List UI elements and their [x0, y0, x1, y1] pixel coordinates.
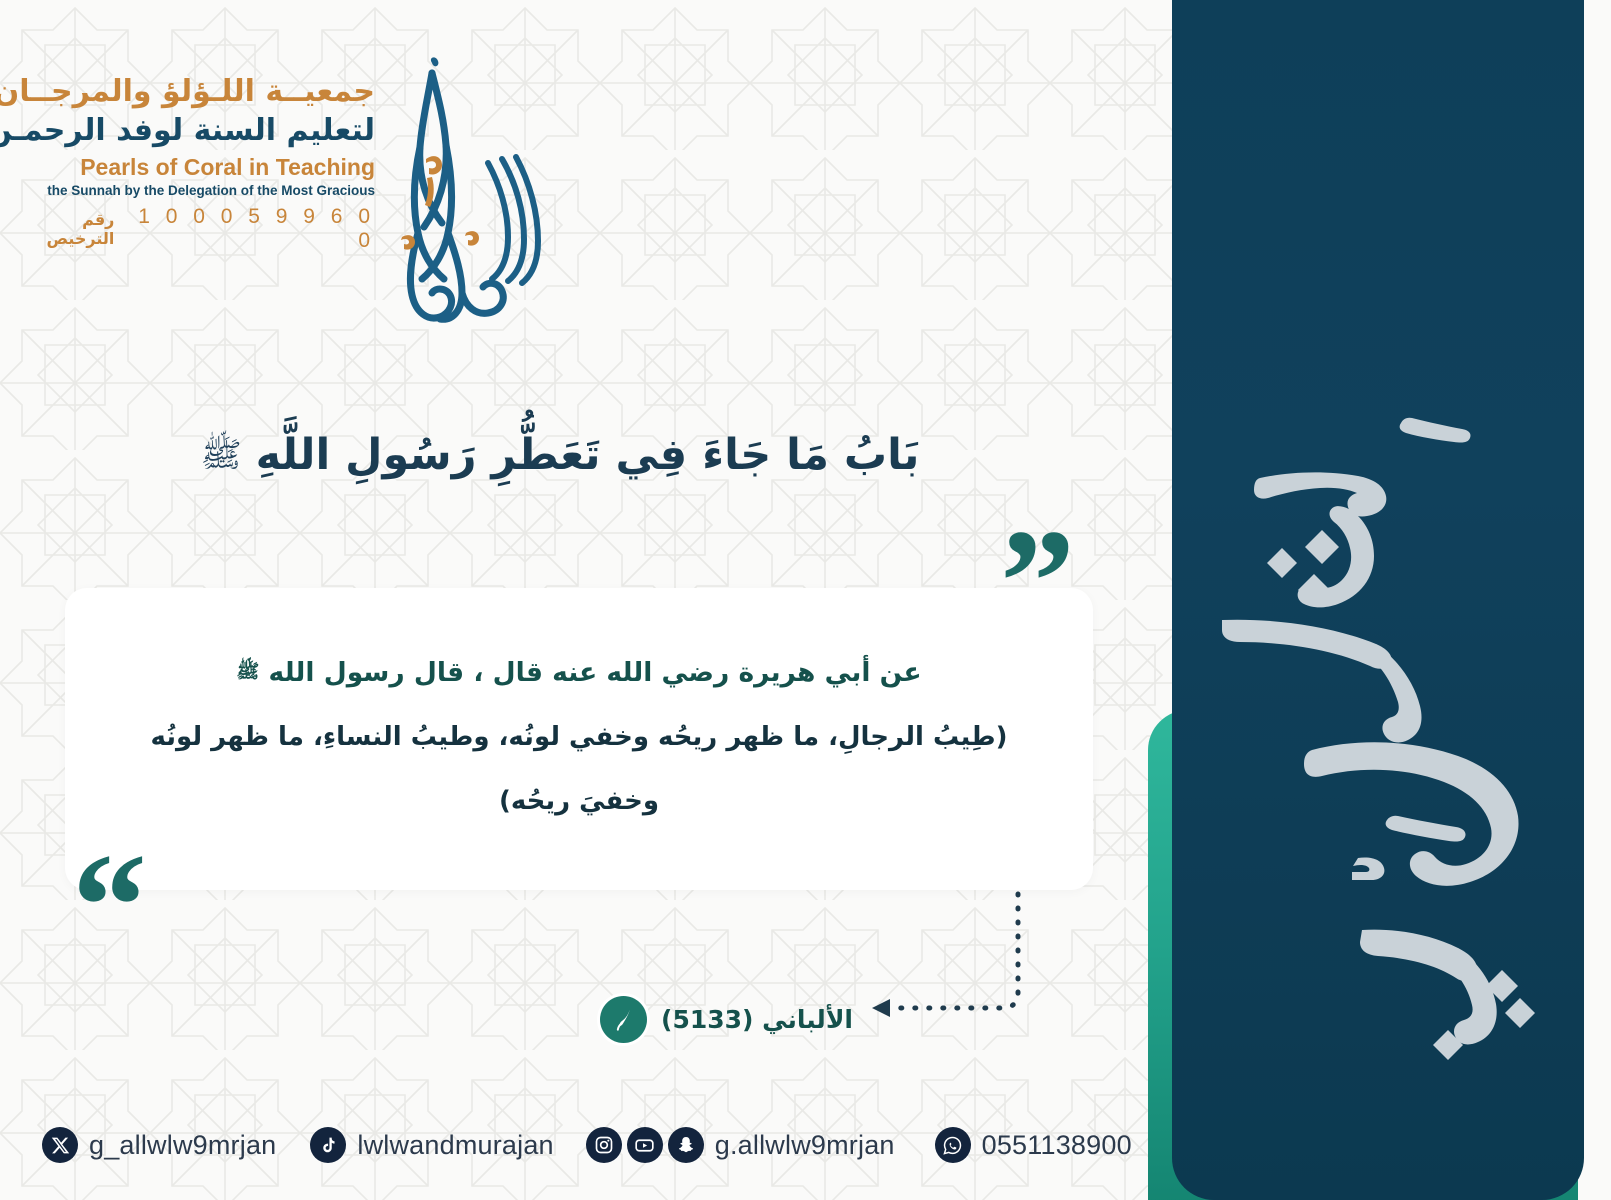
- closing-quote-mark: ”: [1000, 528, 1075, 636]
- license-label: رقم الترخيص: [15, 210, 114, 248]
- org-arabic-name-line2: لتعليم السنة لوفد الرحمـن: [15, 111, 375, 150]
- social-account-meta-group[interactable]: g.allwlw9mrjan: [586, 1127, 895, 1163]
- x-handle: g_allwlw9mrjan: [89, 1130, 276, 1161]
- social-account-tiktok[interactable]: lwlwandmurajan: [310, 1127, 553, 1163]
- license-number: 1 0 0 0 5 9 9 6 0 0: [126, 205, 375, 253]
- hadith-card: عن أبي هريرة رضي الله عنه قال ، قال رسول…: [65, 588, 1093, 890]
- whatsapp-number: 0551138900: [982, 1130, 1132, 1161]
- social-footer: g_allwlw9mrjan lwlwandmurajan: [0, 1112, 1140, 1178]
- youtube-icon[interactable]: [627, 1127, 663, 1163]
- poster-canvas: جمعيــة اللـؤلؤ والمرجــان لتعليم السنة …: [0, 0, 1611, 1200]
- social-account-whatsapp[interactable]: 0551138900: [935, 1127, 1132, 1163]
- salutation-glyph-title: ﷺ: [201, 438, 242, 472]
- hadith-attribution: الألباني (5133): [600, 995, 900, 1043]
- logo-text-block: جمعيــة اللـؤلؤ والمرجــان لتعليم السنة …: [15, 73, 375, 253]
- tiktok-handle: lwlwandmurajan: [357, 1130, 553, 1161]
- chapter-title-text: بَابُ مَا جَاءَ فِي تَعَطُّرِ رَسُولِ ال…: [256, 430, 920, 480]
- tiktok-icon[interactable]: [310, 1127, 346, 1163]
- license-row: 1 0 0 0 5 9 9 6 0 0 رقم الترخيص: [15, 205, 375, 253]
- feather-quill-icon: [600, 996, 647, 1043]
- meta-handle: g.allwlw9mrjan: [715, 1130, 895, 1161]
- hadith-body-line2: (طِيبُ الرجالِ، ما ظهر ريحُه وخفي لونُه،…: [111, 722, 1047, 752]
- x-twitter-icon[interactable]: [42, 1127, 78, 1163]
- instagram-icon[interactable]: [586, 1127, 622, 1163]
- social-account-x[interactable]: g_allwlw9mrjan: [42, 1127, 276, 1163]
- hadith-body-line3: وخفيَ ريحُه): [111, 786, 1047, 816]
- opening-quote-mark: “: [72, 852, 147, 960]
- chapter-title: بَابُ مَا جَاءَ فِي تَعَطُّرِ رَسُولِ ال…: [0, 430, 1120, 480]
- social-icon-cluster: [586, 1127, 704, 1163]
- arabic-calligraphy-decoration: [1172, 330, 1584, 1090]
- navy-decor-panel: [1172, 0, 1584, 1200]
- hadith-narrator-line: عن أبي هريرة رضي الله عنه قال ، قال رسول…: [111, 657, 1047, 688]
- organization-logo: جمعيــة اللـؤلؤ والمرجــان لتعليم السنة …: [20, 55, 550, 295]
- lulu-calligraphy-emblem: [370, 55, 545, 340]
- org-arabic-name-line1: جمعيــة اللـؤلؤ والمرجــان: [15, 73, 375, 111]
- attribution-text: الألباني (5133): [661, 1005, 853, 1034]
- salutation-glyph-hadith: ﷺ: [236, 660, 259, 682]
- snapchat-icon[interactable]: [668, 1127, 704, 1163]
- org-english-name-line2: the Sunnah by the Delegation of the Most…: [15, 183, 375, 198]
- whatsapp-icon[interactable]: [935, 1127, 971, 1163]
- hadith-line1-text: عن أبي هريرة رضي الله عنه قال ، قال رسول…: [269, 657, 922, 688]
- org-english-name-line1: Pearls of Coral in Teaching: [15, 154, 375, 181]
